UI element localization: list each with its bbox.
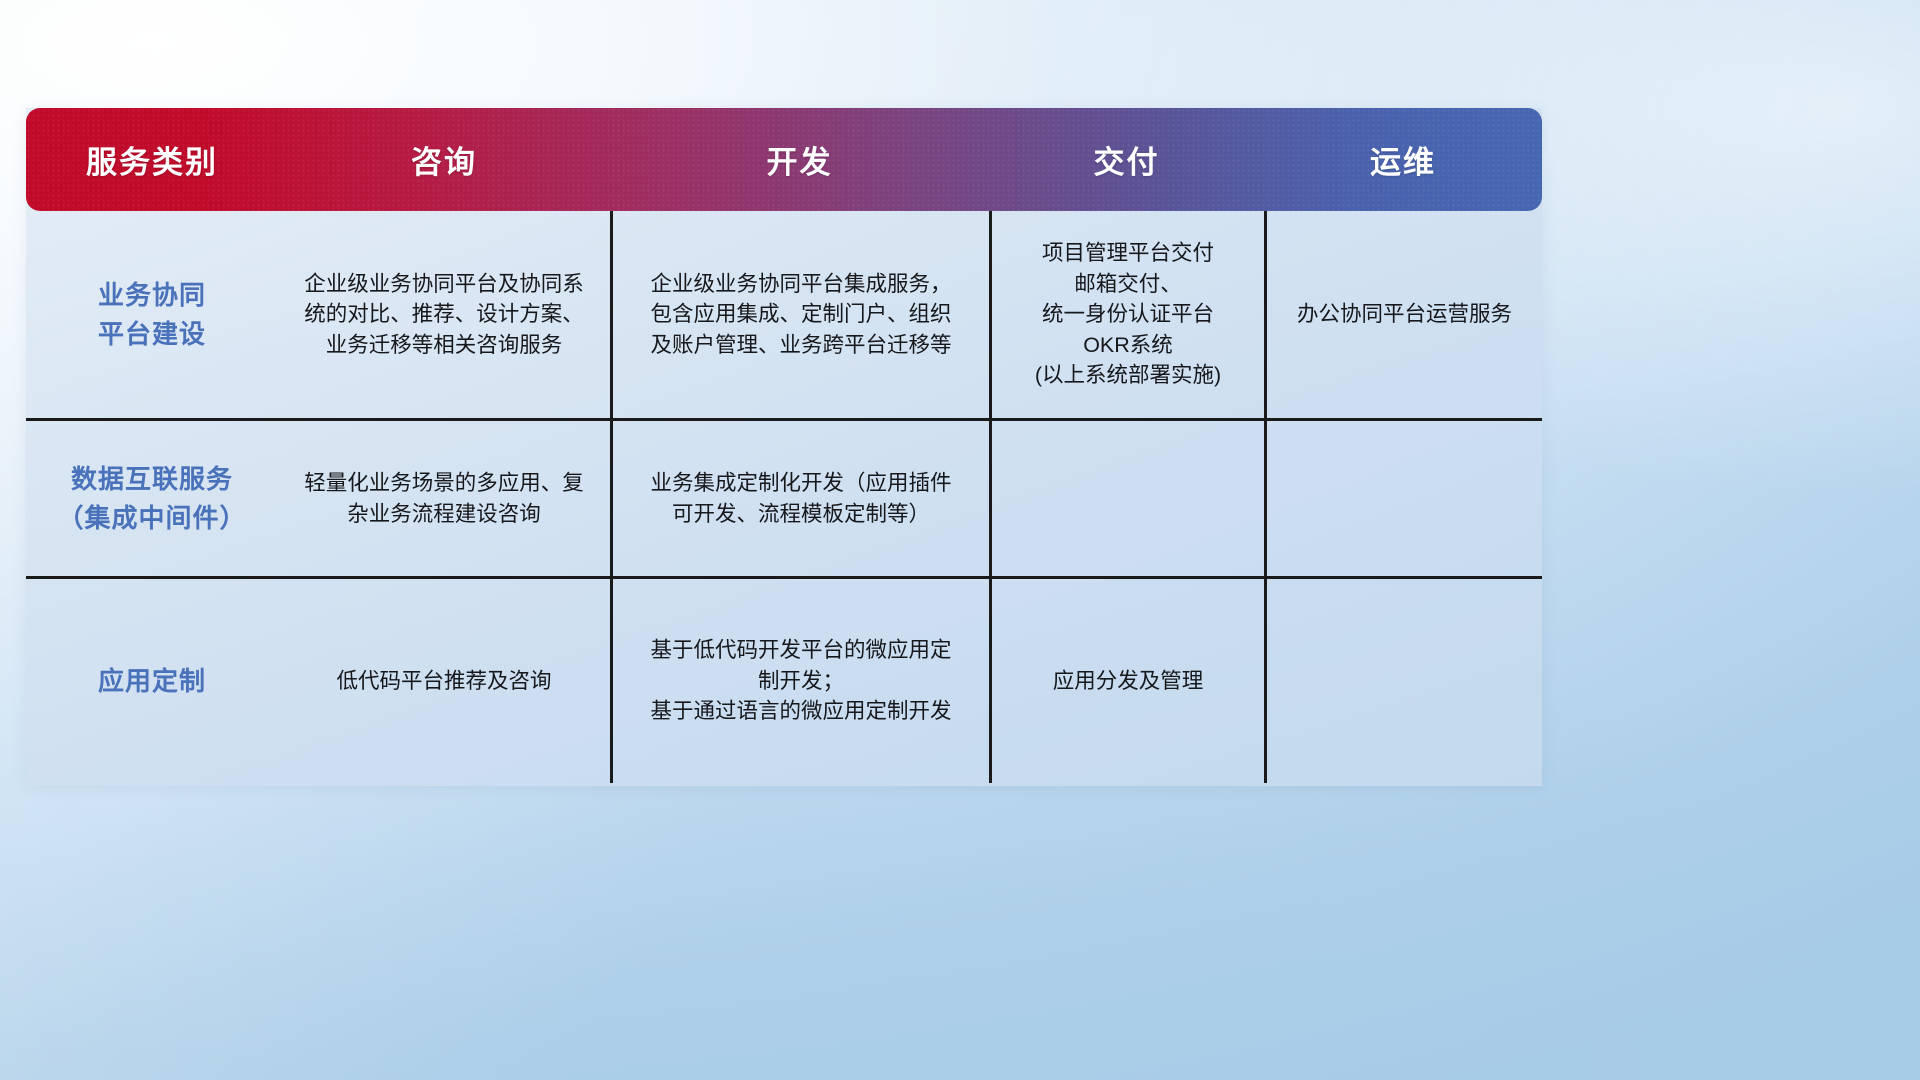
cell-operations: 办公协同平台运营服务 — [1264, 211, 1542, 418]
row-category-label: 应用定制 — [26, 579, 278, 783]
column-header-consulting: 咨询 — [278, 137, 610, 182]
cell-consulting: 低代码平台推荐及咨询 — [278, 579, 610, 783]
cell-development: 基于低代码开发平台的微应用定 制开发； 基于通过语言的微应用定制开发 — [610, 579, 989, 783]
cell-consulting: 轻量化业务场景的多应用、复 杂业务流程建设咨询 — [278, 421, 610, 576]
table-row: 业务协同 平台建设 企业级业务协同平台及协同系 统的对比、推荐、设计方案、 业务… — [26, 211, 1542, 418]
cell-development: 业务集成定制化开发（应用插件 可开发、流程模板定制等） — [610, 421, 989, 576]
column-header-delivery: 交付 — [989, 137, 1264, 182]
table-body: 业务协同 平台建设 企业级业务协同平台及协同系 统的对比、推荐、设计方案、 业务… — [26, 211, 1542, 786]
cell-delivery — [989, 421, 1264, 576]
column-header-category: 服务类别 — [26, 137, 278, 182]
cell-operations — [1264, 579, 1542, 783]
row-category-label: 数据互联服务 （集成中间件） — [26, 421, 278, 576]
table-row: 数据互联服务 （集成中间件） 轻量化业务场景的多应用、复 杂业务流程建设咨询 业… — [26, 418, 1542, 576]
cell-delivery: 应用分发及管理 — [989, 579, 1264, 783]
row-category-label: 业务协同 平台建设 — [26, 211, 278, 418]
cell-development: 企业级业务协同平台集成服务， 包含应用集成、定制门户、组织 及账户管理、业务跨平… — [610, 211, 989, 418]
cell-delivery: 项目管理平台交付 邮箱交付、 统一身份认证平台 OKR系统 (以上系统部署实施) — [989, 211, 1264, 418]
column-header-operations: 运维 — [1264, 137, 1542, 182]
cell-operations — [1264, 421, 1542, 576]
table-row: 应用定制 低代码平台推荐及咨询 基于低代码开发平台的微应用定 制开发； 基于通过… — [26, 576, 1542, 783]
table-header-row: 服务类别 咨询 开发 交付 运维 — [26, 108, 1542, 211]
column-header-development: 开发 — [610, 137, 989, 182]
cell-consulting: 企业级业务协同平台及协同系 统的对比、推荐、设计方案、 业务迁移等相关咨询服务 — [278, 211, 610, 418]
